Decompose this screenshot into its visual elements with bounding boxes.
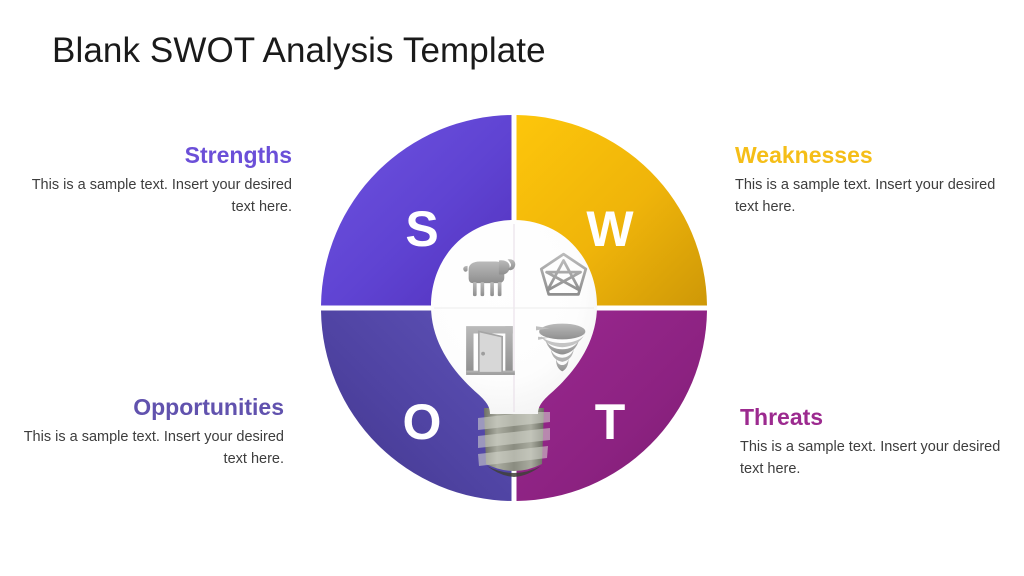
- weaknesses-heading: Weaknesses: [735, 142, 997, 168]
- wedge-letter-o: O: [403, 394, 442, 450]
- opportunities-body: This is a sample text. Insert your desir…: [22, 427, 284, 471]
- wedge-letter-s: S: [405, 201, 438, 257]
- wedge-letter-w: W: [586, 201, 634, 257]
- strengths-heading: Strengths: [30, 142, 292, 168]
- quadrant-text-opportunities: Opportunities This is a sample text. Ins…: [22, 394, 284, 471]
- weaknesses-body: This is a sample text. Insert your desir…: [735, 175, 997, 219]
- wedge-letter-t: T: [595, 394, 626, 450]
- slide-canvas: Blank SWOT Analysis Template Strengths T…: [0, 0, 1024, 576]
- quadrant-text-weaknesses: Weaknesses This is a sample text. Insert…: [735, 142, 997, 219]
- swot-wheel-diagram: S W O T: [318, 112, 710, 504]
- open-door-icon: [466, 326, 515, 375]
- strengths-body: This is a sample text. Insert your desir…: [30, 175, 292, 219]
- opportunities-heading: Opportunities: [22, 394, 284, 420]
- quadrant-text-threats: Threats This is a sample text. Insert yo…: [740, 404, 1002, 481]
- quadrant-text-strengths: Strengths This is a sample text. Insert …: [30, 142, 292, 219]
- page-title: Blank SWOT Analysis Template: [52, 31, 546, 71]
- threats-body: This is a sample text. Insert your desir…: [740, 437, 1002, 481]
- threats-heading: Threats: [740, 404, 1002, 430]
